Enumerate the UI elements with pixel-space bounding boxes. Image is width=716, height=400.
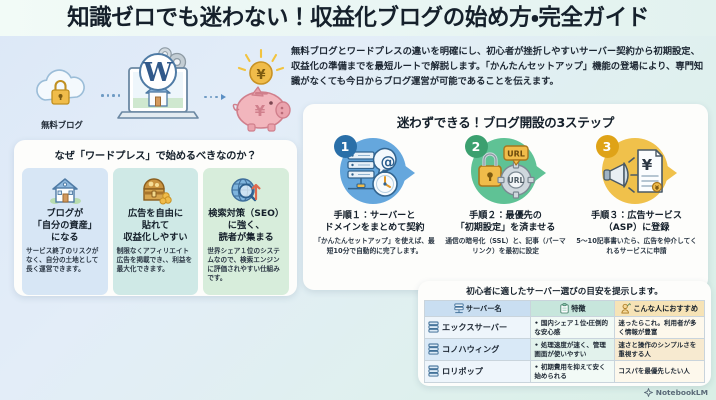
benefit-card-asset: ブログが「自分の資産」になる サービス終了のリスクがなく、自分の土地として長く運… — [22, 168, 108, 295]
step-number-badge: 3 — [596, 135, 619, 158]
cell-server-name: ロリポップ — [425, 361, 531, 383]
svg-text:URL: URL — [507, 150, 525, 159]
arrow-head-icon — [221, 94, 226, 100]
column-header-label: サーバー名 — [466, 304, 502, 314]
benefit-body: 世界シェア１位のシステムなので、検索エンジンに評価されやすい仕組みです。 — [207, 247, 285, 283]
dotted-connector-2 — [204, 94, 226, 100]
svg-text:¥: ¥ — [641, 156, 652, 174]
svg-text:¥: ¥ — [255, 102, 266, 120]
page-title: 知識ゼロでも迷わない！収益化ブログの始め方・完全ガイド — [67, 7, 649, 30]
house-icon — [49, 174, 81, 206]
steps-card-title: 迷わずできる！ブログ開設の3ステップ — [309, 112, 702, 131]
cell-recommend: 迷ったらこれ。利用者が多く情報が豊富 — [615, 317, 705, 339]
cell-recommend: 速さと操作のシンプルさを重視する人 — [615, 339, 705, 361]
svg-text:@: @ — [380, 153, 395, 171]
dot — [215, 96, 218, 99]
steps-list: @ 1 手順１：サーバーとドメインをまとめて契約 「かんたんセットアップ」を使え… — [309, 135, 702, 256]
server-icon — [348, 152, 374, 189]
laptop-wordpress-icon: W — [116, 46, 200, 136]
server-comparison-card: 初心者に適したサーバー選びの目安を提示します。 サーバー名 — [418, 281, 711, 386]
server-name-label: エックスサーバー — [442, 322, 507, 333]
step-3-graphic: ¥ ¥ 3 — [592, 135, 682, 207]
step-2-graphic: URL URL 2 — [461, 135, 551, 207]
cloud-lock-icon — [29, 68, 95, 114]
step-2: URL URL 2 手順２：最優先の「初期設定」を済ませる 通信の暗号化（SSL… — [440, 135, 571, 256]
column-header-label: こんな人におすすめ — [633, 304, 698, 314]
url-tag-icon: URL — [504, 146, 528, 165]
benefit-heading: 検索対策（SEO）に強く、読者が集まる — [208, 208, 284, 243]
yen-document-icon: ¥ ¥ — [638, 150, 662, 192]
benefit-body: 制限なくアフィリエイト広告を掲載でき、、利益を最大化できます。 — [117, 247, 195, 274]
url-gear-icon: URL — [498, 162, 534, 198]
step-body: 5〜10記事書いたら、広告を仲介してくれるサービスに申請 — [574, 237, 699, 256]
benefit-card-seo: 検索対策（SEO）に強く、読者が集まる 世界シェア１位のシステムなので、検索エン… — [203, 168, 289, 295]
column-header-server-name: サーバー名 — [425, 301, 531, 317]
step-heading: 手順２：最優先の「初期設定」を済ませる — [456, 210, 556, 234]
svg-text:¥: ¥ — [256, 68, 265, 83]
benefits-list: ブログが「自分の資産」になる サービス終了のリスクがなく、自分の土地として長く運… — [22, 168, 289, 295]
cell-feature: 初期費用を抑えて安く始められる — [531, 361, 615, 383]
stopwatch-icon — [373, 170, 397, 197]
table-row: エックスサーバー 国内シェア１位・圧倒的な安心感 迷ったらこれ。利用者が多く情報… — [425, 317, 705, 339]
benefit-body: サービス終了のリスクがなく、自分の土地として長く運営できます。 — [26, 247, 104, 274]
cell-server-name: コノハウィング — [425, 339, 531, 361]
benefit-heading: 広告を自由に貼れて収益化しやすい — [123, 208, 187, 243]
table-row: コノハウィング 処理速度が速く、管理画面が使いやすい 速さと操作のシンプルさを重… — [425, 339, 705, 361]
svg-text:W: W — [142, 58, 173, 88]
free-blog-group: 無料ブログ — [26, 68, 98, 131]
intro-paragraph: 無料ブログとワードプレスの違いを明確にし、初心者が挫折しやすいサーバー契約から初… — [291, 44, 709, 89]
footer-brand-label: NotebookLM — [656, 388, 708, 397]
server-rack-icon — [428, 321, 439, 334]
cell-server-name: エックスサーバー — [425, 317, 531, 339]
megaphone-icon — [604, 158, 637, 192]
piggy-bank-yen-icon: ¥ ¥ — [230, 48, 292, 136]
person-check-icon — [621, 303, 631, 314]
table-header-row: サーバー名 特徴 — [425, 301, 705, 317]
table-caption: 初心者に適したサーバー選びの目安を提示します。 — [424, 285, 705, 297]
cell-feature: 国内シェア１位・圧倒的な安心感 — [531, 317, 615, 339]
server-rack-icon — [428, 343, 439, 356]
server-rack-icon — [428, 365, 439, 378]
steps-card: 迷わずできる！ブログ開設の3ステップ — [303, 104, 708, 290]
server-rack-icon — [454, 303, 464, 314]
dot — [107, 94, 110, 97]
column-header-label: 特徴 — [571, 304, 585, 314]
hero-illustration: 無料ブログ — [8, 46, 286, 142]
footer-branding: NotebookLM — [644, 388, 708, 397]
dot — [204, 96, 207, 99]
dot — [101, 94, 104, 97]
piggy-bank-group: ¥ ¥ — [230, 48, 292, 140]
wordpress-card-title: なぜ「ワードプレス」で始めるべきなのか？ — [22, 147, 289, 162]
step-body: 通信の暗号化（SSL）と、記事（パーマリンク）を最初に設定 — [443, 237, 568, 256]
clipboard-icon — [560, 303, 569, 314]
table-row: ロリポップ 初期費用を抑えて安く始められる コスパを最優先したい人 — [425, 361, 705, 383]
treasure-chest-icon — [139, 174, 173, 206]
server-name-label: コノハウィング — [442, 344, 499, 355]
svg-text:URL: URL — [507, 176, 524, 185]
step-heading: 手順３：広告サービス（ASP）に登録 — [591, 210, 682, 234]
cell-feature: 処理速度が速く、管理画面が使いやすい — [531, 339, 615, 361]
step-3: ¥ ¥ 3 手順３：広告サービス（ASP）に登録 5〜10記事書いたら、広告を仲… — [571, 135, 702, 256]
dot — [210, 96, 213, 99]
notebooklm-logo-icon — [644, 388, 653, 397]
dot — [112, 94, 115, 97]
globe-search-icon — [229, 174, 263, 206]
step-heading: 手順１：サーバーとドメインをまとめて契約 — [324, 210, 424, 234]
step-body: 「かんたんセットアップ」を使えば、最短10分で自動的に完了します。 — [312, 237, 437, 256]
wordpress-laptop-group: W — [116, 46, 200, 140]
server-comparison-table: サーバー名 特徴 — [424, 300, 705, 383]
column-header-recommend: こんな人におすすめ — [615, 301, 705, 317]
server-name-label: ロリポップ — [442, 366, 483, 377]
benefit-card-ads: 広告を自由に貼れて収益化しやすい 制限なくアフィリエイト広告を掲載でき、、利益を… — [113, 168, 199, 295]
step-1-graphic: @ 1 — [330, 135, 420, 207]
benefit-heading: ブログが「自分の資産」になる — [33, 208, 97, 243]
step-number-badge: 1 — [334, 135, 357, 158]
column-header-feature: 特徴 — [531, 301, 615, 317]
free-blog-label: 無料ブログ — [26, 119, 98, 131]
page-header: 知識ゼロでも迷わない！収益化ブログの始め方・完全ガイド — [0, 0, 716, 36]
cell-recommend: コスパを最優先したい人 — [615, 361, 705, 383]
step-number-badge: 2 — [465, 135, 488, 158]
wordpress-benefits-card: なぜ「ワードプレス」で始めるべきなのか？ ブログが「自分の資産」になる サービス… — [14, 140, 297, 296]
step-1: @ 1 手順１：サーバーとドメインをまとめて契約 「かんたんセットアップ」を使え… — [309, 135, 440, 256]
